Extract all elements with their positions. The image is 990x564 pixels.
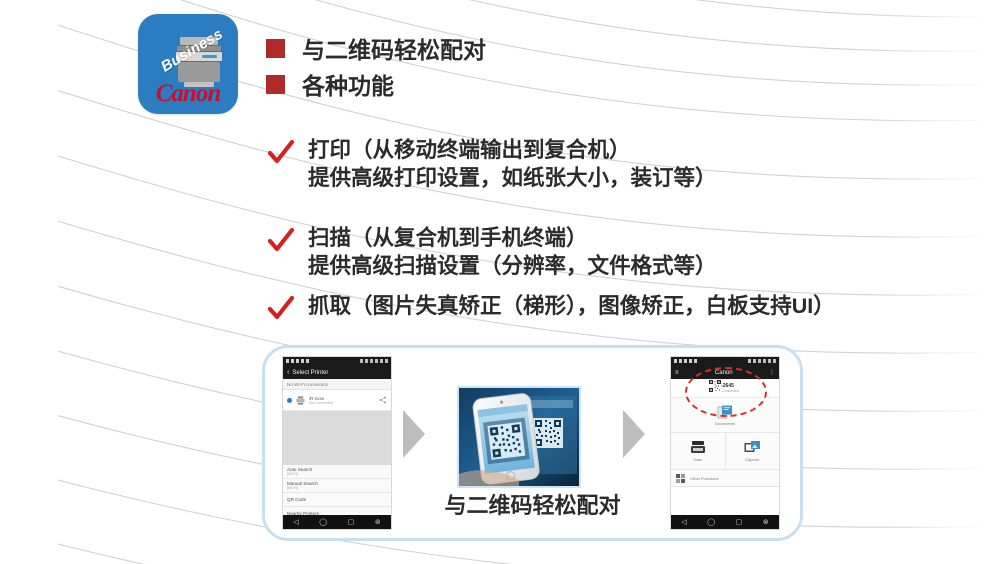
- empty-list-area: [283, 411, 391, 465]
- feature-item-capture: 抓取（图片失真矫正（梯形），图像矫正，白板支持UI）: [268, 292, 835, 322]
- capture-icon: [744, 440, 761, 455]
- flow-arrow-1: [403, 410, 425, 458]
- app-bar-title: Select Printer: [292, 370, 328, 376]
- documents-icon: [717, 405, 733, 419]
- tile-row: Scan Capture: [671, 433, 779, 470]
- app-bar: ≡ Canon ⋮: [671, 366, 779, 379]
- share-icon[interactable]: [379, 396, 387, 404]
- tile-scan[interactable]: Scan: [671, 433, 725, 470]
- tile-capture[interactable]: Capture: [725, 433, 780, 470]
- tile-label: Scan: [693, 457, 702, 462]
- radio-selected-icon[interactable]: [287, 398, 292, 403]
- menu-icon[interactable]: ≡: [675, 370, 679, 376]
- wifi-section-label: No Wi-Fi connection: [283, 379, 391, 390]
- headline-bullet-1: 各种功能: [266, 67, 394, 101]
- android-status-bar: [283, 357, 391, 366]
- app-bar-title: Canon: [715, 370, 733, 376]
- flow-arrow-2: [623, 410, 645, 458]
- menu-item-sub: (Wi-Fi): [287, 472, 387, 476]
- check-icon: [268, 296, 294, 322]
- headline-bullet-0: 与二维码轻松配对: [266, 31, 486, 65]
- feature-line: 扫描（从复合机到手机终端）: [308, 224, 717, 252]
- canon-print-business-app-icon[interactable]: Business Canon: [138, 14, 238, 114]
- tile-label: Capture: [745, 457, 759, 462]
- feature-item-scan: 扫描（从复合机到手机终端） 提供高级扫描设置（分辨率，文件格式等）: [268, 224, 717, 281]
- qr-code-icon: [709, 380, 721, 392]
- menu-item-auto-search[interactable]: Auto Search (Wi-Fi): [283, 465, 391, 479]
- feature-line: 提供高级扫描设置（分辨率，文件格式等）: [308, 252, 717, 280]
- printer-info: iR-2xxx Not Connected: [309, 396, 375, 405]
- back-icon[interactable]: ‹: [287, 369, 289, 376]
- overflow-icon[interactable]: ⋮: [769, 369, 775, 376]
- showcase-panel: ‹ Select Printer No Wi-Fi connection iR-…: [262, 345, 803, 541]
- status-right-icons: [748, 359, 776, 363]
- printer-icon: [296, 396, 305, 405]
- red-square-bullet-icon: [266, 39, 285, 58]
- android-status-bar: [671, 357, 779, 366]
- red-square-bullet-icon: [266, 75, 285, 94]
- canon-wordmark: Canon: [138, 80, 238, 108]
- status-left-icons: [286, 359, 309, 363]
- phone-scanning-qr-code-photo: [457, 386, 581, 488]
- feature-item-print: 打印（从移动终端输出到复合机） 提供高级打印设置，如纸张大小，装订等）: [268, 136, 717, 193]
- tile-documents[interactable]: Documents: [671, 398, 779, 433]
- app-bar: ‹ Select Printer: [283, 366, 391, 379]
- headline-bullet-label: 与二维码轻松配对: [302, 31, 486, 65]
- status-left-icons: [674, 359, 697, 363]
- tile-other-functions[interactable]: Other Functions: [671, 470, 779, 487]
- feature-line: 打印（从移动终端输出到复合机）: [308, 136, 717, 164]
- printer-sub: Not Connected: [309, 401, 375, 405]
- tile-label: Other Functions: [690, 476, 718, 481]
- other-functions-icon: [676, 474, 685, 483]
- connected-printer-header[interactable]: iR-2645 Printer Connected: [671, 379, 779, 398]
- headline-bullet-label: 各种功能: [302, 67, 394, 101]
- showcase-caption: 与二维码轻松配对: [265, 488, 800, 520]
- tile-label: Documents: [715, 421, 735, 426]
- check-icon: [268, 140, 294, 166]
- feature-line: 抓取（图片失真矫正（梯形），图像矫正，白板支持UI）: [308, 292, 835, 320]
- scanner-icon: [690, 440, 706, 455]
- check-icon: [268, 228, 294, 254]
- status-right-icons: [360, 359, 388, 363]
- feature-line: 提供高级打印设置，如纸张大小，装订等）: [308, 164, 717, 192]
- printer-list-item[interactable]: iR-2xxx Not Connected: [283, 390, 391, 411]
